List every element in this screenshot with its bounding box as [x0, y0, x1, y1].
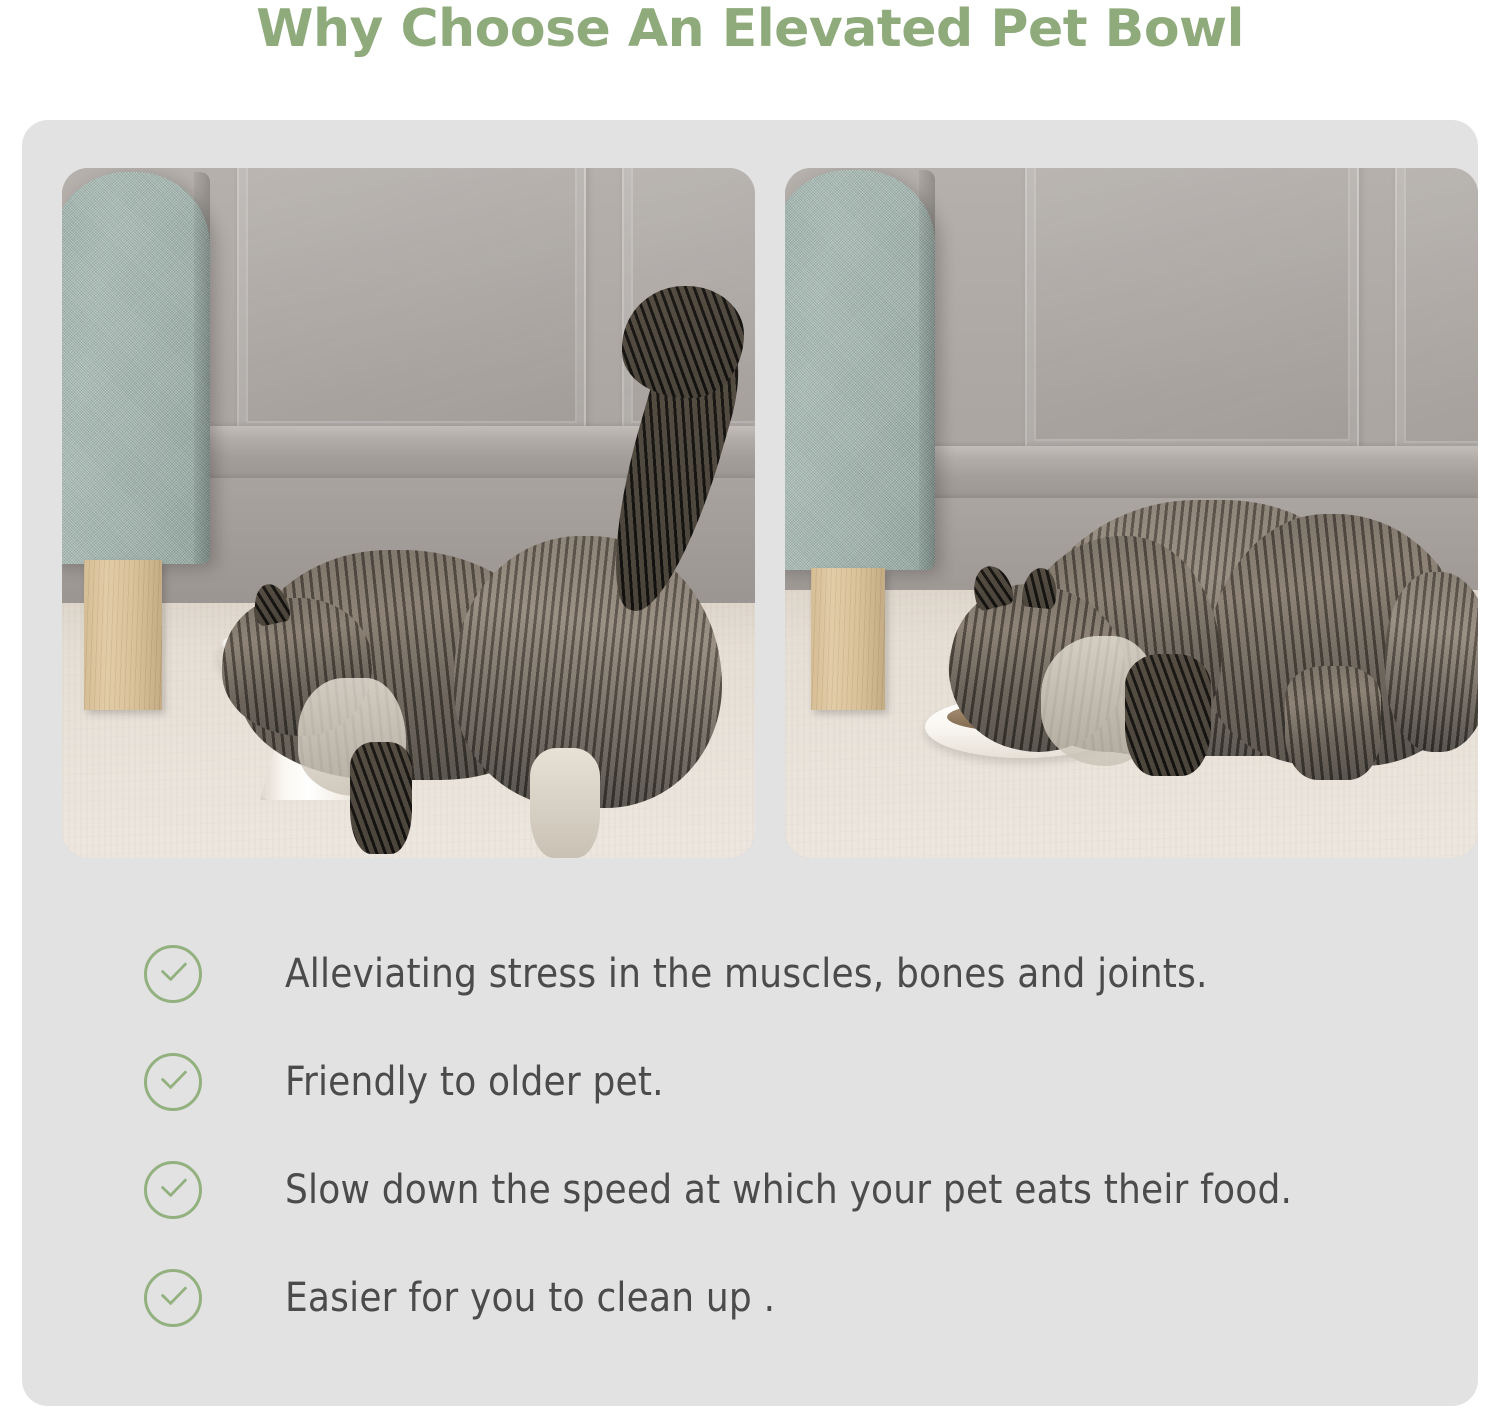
sofa-arm [62, 172, 210, 564]
sofa-arm [785, 170, 935, 570]
check-circle-icon [144, 945, 202, 1003]
benefits-list: Alleviating stress in the muscles, bones… [122, 920, 1452, 1352]
list-item: Slow down the speed at which your pet ea… [122, 1136, 1452, 1244]
photo-panel-group [40, 168, 1460, 863]
cat-tail-tip [622, 286, 744, 398]
wall-moulding-panel [237, 168, 586, 432]
list-item: Friendly to older pet. [122, 1028, 1452, 1136]
check-circle-icon [144, 1161, 202, 1219]
list-item: Alleviating stress in the muscles, bones… [122, 920, 1452, 1028]
wall-moulding-panel [1025, 168, 1359, 450]
content-card: Alleviating stress in the muscles, bones… [22, 120, 1478, 1406]
cat-tail [1385, 572, 1478, 752]
benefit-label: Easier for you to clean up . [285, 1275, 775, 1321]
benefit-label: Alleviating stress in the muscles, bones… [285, 951, 1208, 997]
check-circle-icon [144, 1053, 202, 1111]
page-title: Why Choose An Elevated Pet Bowl [0, 0, 1500, 60]
sofa-wood-leg [84, 560, 162, 710]
benefit-label: Friendly to older pet. [285, 1059, 664, 1105]
sofa-arm-edge [919, 170, 935, 570]
sofa-arm-edge [194, 172, 210, 564]
list-item: Easier for you to clean up . [122, 1244, 1452, 1352]
benefit-label: Slow down the speed at which your pet ea… [285, 1167, 1292, 1213]
check-circle-icon [144, 1269, 202, 1327]
cat-front-leg [350, 742, 412, 854]
cat-hind-leg [1285, 666, 1381, 780]
elevated-bowl-photo [62, 168, 755, 858]
cat-hind-leg [530, 748, 600, 858]
cat-front-leg [1125, 654, 1211, 776]
sofa-wood-leg [811, 568, 885, 710]
flat-bowl-photo [785, 168, 1478, 858]
wall-moulding-panel [1395, 168, 1478, 452]
